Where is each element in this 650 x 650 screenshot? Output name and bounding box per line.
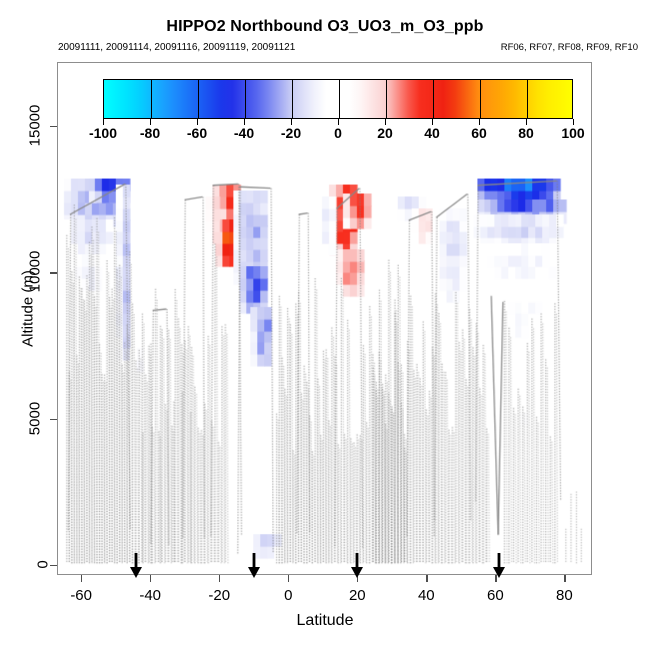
x-axis-tick-label: 60 bbox=[487, 587, 504, 604]
x-axis-tick-label: -20 bbox=[208, 587, 230, 604]
colorbar-divider bbox=[386, 80, 387, 118]
flight-dates-label: 20091111, 20091114, 20091116, 20091119, … bbox=[58, 42, 295, 53]
figure-root: HIPPO2 Northbound O3_UO3_m_O3_ppb 200911… bbox=[0, 0, 650, 650]
x-axis-tick bbox=[219, 575, 220, 582]
colorbar-tick-label: 20 bbox=[377, 125, 393, 141]
research-flights-label: RF06, RF07, RF08, RF09, RF10 bbox=[501, 42, 638, 53]
x-axis-tick bbox=[426, 575, 427, 582]
y-axis-tick bbox=[50, 272, 57, 273]
x-axis-tick bbox=[288, 575, 289, 582]
y-axis-tick-label: 0 bbox=[35, 534, 52, 594]
colorbar: -100-80-60-40-20020406080100 bbox=[103, 79, 573, 119]
colorbar-tick-label: 0 bbox=[334, 125, 342, 141]
colorbar-tick-label: -40 bbox=[234, 125, 254, 141]
heatmap-canvas bbox=[58, 63, 591, 574]
colorbar-divider bbox=[151, 80, 152, 118]
page-title: HIPPO2 Northbound O3_UO3_m_O3_ppb bbox=[0, 18, 650, 36]
colorbar-tick-label: 80 bbox=[518, 125, 534, 141]
x-axis-tick bbox=[150, 575, 151, 582]
colorbar-divider bbox=[433, 80, 434, 118]
colorbar-divider bbox=[245, 80, 246, 118]
colorbar-tick-label: 40 bbox=[424, 125, 440, 141]
station-marker-arrow-icon bbox=[129, 553, 143, 579]
x-axis-tick bbox=[564, 575, 565, 582]
y-axis-tick-label: 5000 bbox=[27, 388, 44, 448]
plot-area bbox=[57, 62, 592, 575]
y-axis-label: Altitude (m) bbox=[20, 229, 37, 389]
station-marker-arrow-icon bbox=[247, 553, 261, 579]
colorbar-tick-label: 100 bbox=[561, 125, 584, 141]
colorbar-tick-label: 60 bbox=[471, 125, 487, 141]
x-axis-tick-label: -60 bbox=[70, 587, 92, 604]
x-axis-label: Latitude bbox=[0, 612, 650, 630]
x-axis-tick-label: 40 bbox=[418, 587, 435, 604]
colorbar-tick-label: -20 bbox=[281, 125, 301, 141]
colorbar-gradient bbox=[103, 79, 573, 119]
colorbar-divider bbox=[198, 80, 199, 118]
colorbar-divider bbox=[339, 80, 340, 118]
colorbar-divider bbox=[292, 80, 293, 118]
colorbar-divider bbox=[527, 80, 528, 118]
colorbar-tick-label: -80 bbox=[140, 125, 160, 141]
x-axis-tick-label: -40 bbox=[139, 587, 161, 604]
y-axis-tick bbox=[50, 419, 57, 420]
colorbar-tick-label: -100 bbox=[89, 125, 117, 141]
station-marker-arrow-icon bbox=[492, 553, 506, 579]
x-axis-tick-label: 0 bbox=[284, 587, 292, 604]
colorbar-divider bbox=[480, 80, 481, 118]
x-axis-tick-label: 20 bbox=[349, 587, 366, 604]
x-axis-tick-label: 80 bbox=[556, 587, 573, 604]
x-axis-tick bbox=[81, 575, 82, 582]
station-marker-arrow-icon bbox=[350, 553, 364, 579]
y-axis-tick-label: 15000 bbox=[27, 96, 44, 156]
y-axis-tick bbox=[50, 126, 57, 127]
colorbar-tick-label: -60 bbox=[187, 125, 207, 141]
